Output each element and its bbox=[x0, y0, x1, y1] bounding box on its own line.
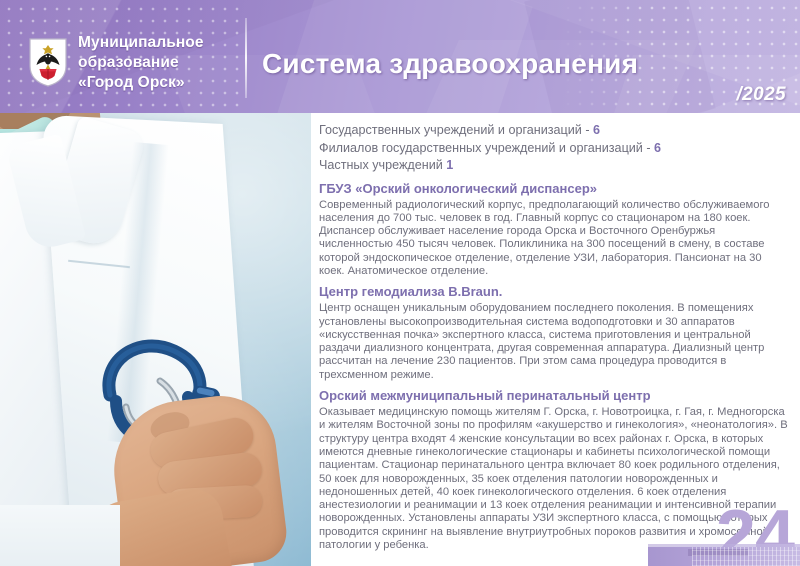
doctor-photo bbox=[0, 113, 311, 566]
header-divider bbox=[245, 18, 247, 98]
stat-value: 6 bbox=[654, 141, 661, 155]
municipality-line-2: образование bbox=[78, 53, 238, 73]
section-heading-perinatal: Орский межмуниципальный перинатальный це… bbox=[319, 387, 790, 404]
section-body-oncology: Современный радиологический корпус, пред… bbox=[319, 199, 790, 279]
stat-label: Частных учреждений bbox=[319, 158, 446, 172]
photo-coat-bottom bbox=[0, 505, 120, 566]
slide: Муниципальное образование «Город Орск» С… bbox=[0, 0, 800, 566]
page-title: Система здравоохранения bbox=[262, 48, 638, 80]
stat-line-private: Частных учреждений 1 bbox=[319, 157, 790, 174]
footer-bar-grid bbox=[692, 547, 800, 566]
municipality-line-1: Муниципальное bbox=[78, 33, 238, 53]
coat-of-arms-icon bbox=[26, 36, 70, 88]
stat-label: Филиалов государственных учреждений и ор… bbox=[319, 141, 654, 155]
section-heading-hemodialysis: Центр гемодиализа B.Braun. bbox=[319, 283, 790, 300]
section-heading-oncology: ГБУЗ «Орский онкологический диспансер» bbox=[319, 180, 790, 197]
stat-value: 6 bbox=[593, 123, 600, 137]
slide-header: Муниципальное образование «Город Орск» С… bbox=[0, 0, 800, 113]
stat-line-state-institutions: Государственных учреждений и организаций… bbox=[319, 122, 790, 139]
stat-value: 1 bbox=[446, 158, 453, 172]
year-label: /2025 bbox=[736, 84, 786, 106]
stat-label: Государственных учреждений и организаций… bbox=[319, 123, 593, 137]
stat-line-branches: Филиалов государственных учреждений и ор… bbox=[319, 140, 790, 157]
section-body-hemodialysis: Центр оснащен уникальным оборудованием п… bbox=[319, 302, 790, 382]
footer-bar bbox=[648, 547, 800, 566]
municipality-line-3: «Город Орск» bbox=[78, 73, 238, 93]
municipality-name: Муниципальное образование «Город Орск» bbox=[78, 33, 238, 93]
